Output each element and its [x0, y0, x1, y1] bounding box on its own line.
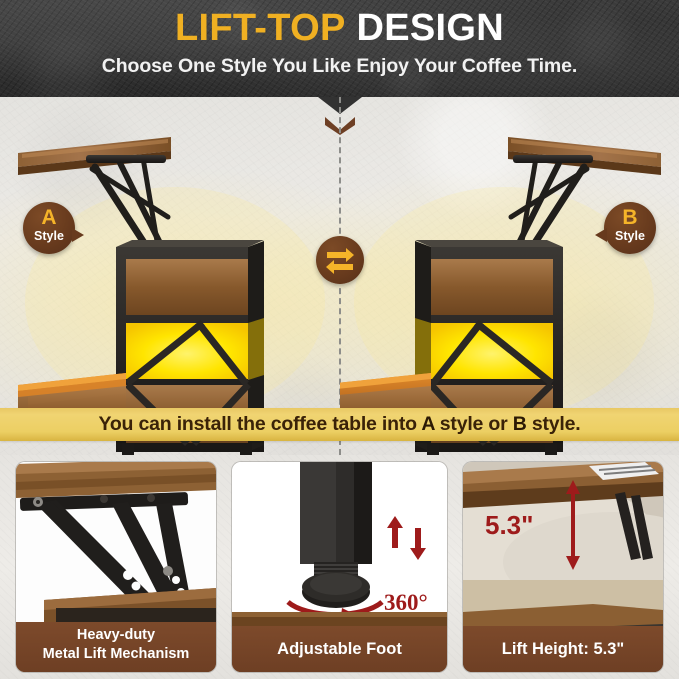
panel-lift-height: 5.3" Lift Height: 5.3" — [463, 462, 663, 672]
product-infographic: LIFT-TOP DESIGN Choose One Style You Lik… — [0, 0, 679, 679]
panel-3-caption: Lift Height: 5.3" — [463, 626, 663, 672]
page-subtitle: Choose One Style You Like Enjoy Your Cof… — [0, 53, 679, 79]
banner-text-3: style. — [527, 413, 581, 435]
table-illustration-b — [340, 97, 679, 455]
header-banner: LIFT-TOP DESIGN Choose One Style You Lik… — [0, 0, 679, 97]
install-banner: You can install the coffee table into A … — [0, 408, 679, 441]
rotation-label: 360° — [384, 590, 428, 615]
title-gold-part: LIFT-TOP — [175, 7, 346, 49]
style-badge-b-label: Style — [604, 229, 656, 243]
style-badge-b-letter: B — [604, 207, 656, 229]
style-badge-a-letter: A — [23, 207, 75, 229]
page-title: LIFT-TOP DESIGN — [0, 5, 679, 51]
panel-1-caption-line1: Heavy-duty — [16, 626, 216, 645]
panel-2-caption: Adjustable Foot — [232, 626, 447, 672]
panel-adjustable-foot: 360° Adjustable Foot — [232, 462, 447, 672]
banner-bold-a: A — [421, 413, 434, 435]
style-badge-a-label: Style — [23, 229, 75, 243]
banner-bold-b: B — [513, 413, 527, 435]
dimension-label: 5.3" — [485, 510, 533, 540]
panel-1-caption: Heavy-duty Metal Lift Mechanism — [16, 622, 216, 672]
panel-lift-mechanism: Heavy-duty Metal Lift Mechanism — [16, 462, 216, 672]
swap-arrows-icon — [316, 236, 364, 284]
banner-text-2: style or — [435, 413, 513, 435]
title-white-part: DESIGN — [356, 7, 504, 49]
style-badge-b: B Style — [604, 202, 656, 254]
banner-text-1: You can install the coffee table into — [98, 413, 421, 435]
panel-1-caption-line2: Metal Lift Mechanism — [16, 645, 216, 664]
install-banner-text: You can install the coffee table into A … — [0, 408, 679, 441]
feature-panels: Heavy-duty Metal Lift Mechanism — [0, 455, 679, 679]
table-illustration-a — [0, 97, 339, 455]
style-badge-a: A Style — [23, 202, 75, 254]
